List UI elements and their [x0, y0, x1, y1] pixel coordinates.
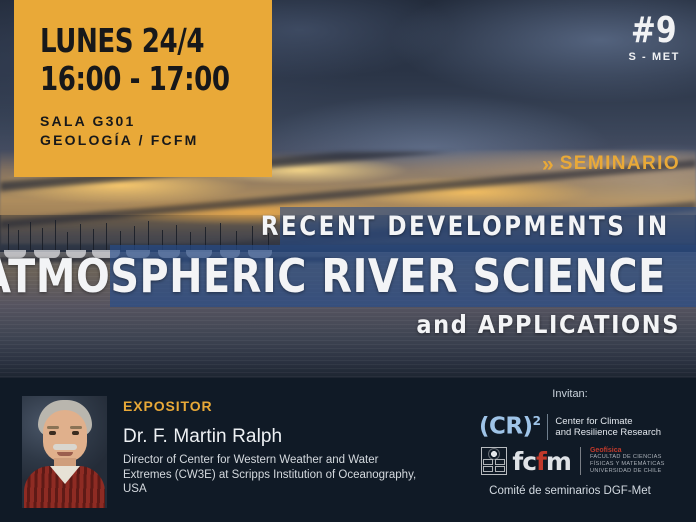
cr2-fullname: Center for Climate and Resilience Resear…	[555, 416, 661, 439]
cr2-name-line-1: Center for Climate	[555, 416, 661, 428]
seminar-time: 16:00 - 17:00	[40, 60, 244, 98]
seminar-room: SALA G301	[40, 112, 272, 131]
date-info-box: LUNES 24/4 16:00 - 17:00 SALA G301 GEOLO…	[14, 0, 272, 177]
speaker-info: EXPOSITOR Dr. F. Martin Ralph Director o…	[123, 398, 423, 497]
fcfm-letter-c: c	[522, 447, 536, 476]
title-line-2: ATMOSPHERIC RIVER SCIENCE	[0, 249, 666, 303]
fcfm-faculty-text: Geofísica FACULTAD DE CIENCIAS FÍSICAS Y…	[590, 447, 665, 475]
speaker-name: Dr. F. Martin Ralph	[123, 426, 423, 448]
cr2-logo: (CR)2 Center for Climate and Resilience …	[450, 414, 690, 440]
speaker-portrait	[22, 396, 107, 508]
seminar-day: LUNES 24/4	[40, 22, 244, 60]
committee-label: Comité de seminarios DGF-Met	[450, 485, 690, 497]
cr2-exponent: 2	[533, 414, 541, 428]
seminar-label-text: SEMINARIO	[560, 153, 680, 175]
title-line-3: and APPLICATIONS	[416, 310, 680, 339]
cr2-mark-text: (CR)	[479, 414, 533, 440]
speaker-heading: EXPOSITOR	[123, 398, 423, 414]
fcfm-logo: fcfm Geofísica FACULTAD DE CIENCIAS FÍSI…	[450, 447, 690, 475]
fcfm-letter-m: m	[546, 447, 571, 476]
cr2-divider	[547, 414, 548, 440]
seminar-label: » SEMINARIO	[542, 153, 680, 175]
universidad-de-chile-crest-icon	[481, 447, 507, 475]
issue-number-badge: #9 S - MET	[628, 14, 680, 63]
title-band-1: RECENT DEVELOPMENTS IN	[280, 207, 696, 245]
cr2-name-line-2: and Resilience Research	[555, 427, 661, 439]
fcfm-faculty-line-1: FACULTAD DE CIENCIAS	[590, 454, 665, 461]
fcfm-wordmark: fcfm	[512, 449, 571, 474]
cr2-wordmark: (CR)2	[479, 415, 540, 439]
fcfm-geofisica: Geofísica	[590, 447, 665, 454]
fcfm-divider	[580, 447, 581, 475]
fcfm-letter-f2: f	[536, 447, 546, 476]
invitan-label: Invitan:	[450, 388, 690, 400]
title-line-1: RECENT DEVELOPMENTS IN	[260, 211, 669, 242]
issue-series: S - MET	[628, 51, 680, 63]
double-chevron-right-icon: »	[542, 154, 551, 175]
sponsors-section: Invitan: (CR)2 Center for Climate and Re…	[450, 388, 690, 497]
fcfm-faculty-line-2: FÍSICAS Y MATEMÁTICAS	[590, 461, 665, 468]
fcfm-letter-f1: f	[512, 447, 522, 476]
poster-footer: EXPOSITOR Dr. F. Martin Ralph Director o…	[0, 378, 696, 522]
title-band-3: and APPLICATIONS	[420, 307, 696, 341]
seminar-department: GEOLOGÍA / FCFM	[40, 131, 272, 150]
title-band-2: ATMOSPHERIC RIVER SCIENCE	[110, 245, 696, 307]
seminar-poster: LUNES 24/4 16:00 - 17:00 SALA G301 GEOLO…	[0, 0, 696, 522]
fcfm-faculty-line-3: UNIVERSIDAD DE CHILE	[590, 468, 665, 475]
speaker-bio: Director of Center for Western Weather a…	[123, 453, 423, 497]
issue-number: #9	[631, 14, 678, 48]
